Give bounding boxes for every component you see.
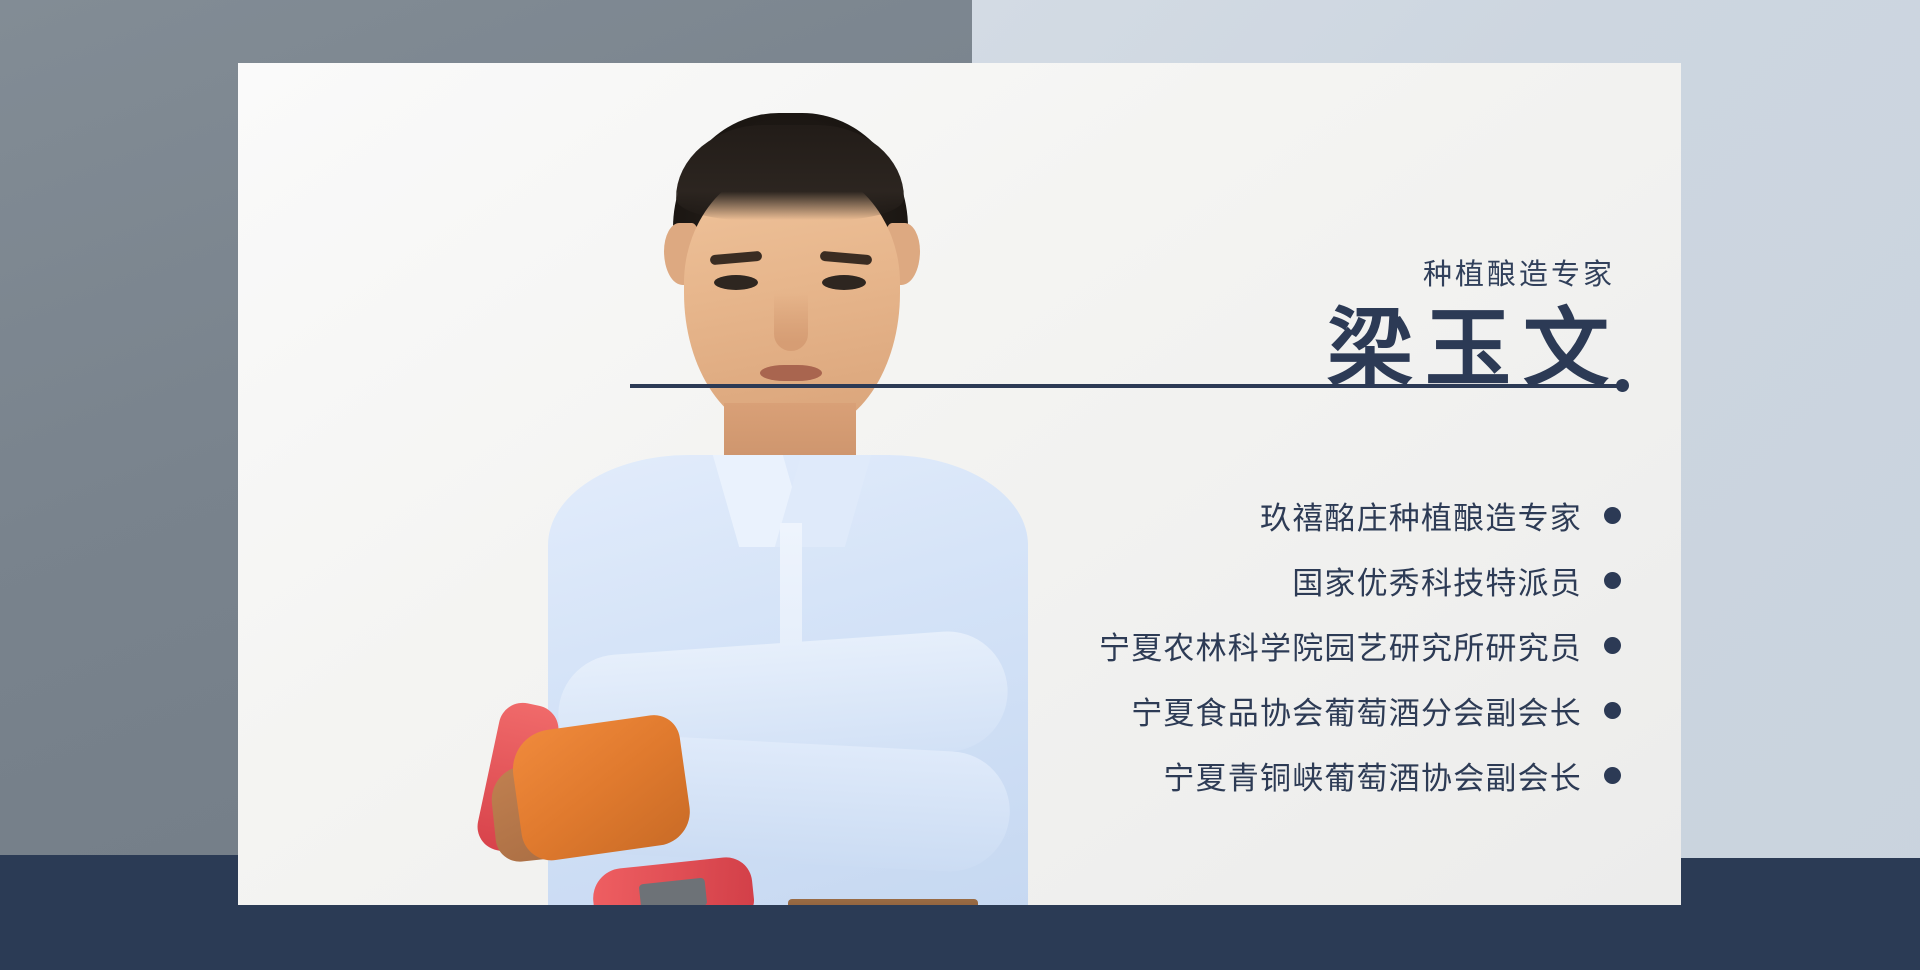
portrait-belt bbox=[788, 899, 978, 905]
credential-label: 国家优秀科技特派员 bbox=[1292, 558, 1582, 603]
credential-label: 宁夏农林科学院园艺研究所研究员 bbox=[1099, 623, 1582, 668]
poster-stage: 种植酿造专家 梁玉文 玖禧酩庄种植酿造专家 国家优秀科技特派员 宁夏农林科学院园… bbox=[0, 0, 1920, 970]
list-item: 玖禧酩庄种植酿造专家 bbox=[1260, 483, 1621, 548]
bullet-dot-icon bbox=[1604, 572, 1621, 589]
portrait-orange-glove bbox=[508, 712, 694, 864]
list-item: 国家优秀科技特派员 bbox=[1292, 548, 1621, 613]
credential-label: 宁夏食品协会葡萄酒分会副会长 bbox=[1131, 688, 1582, 733]
background-navy-band-bottom bbox=[0, 905, 1920, 970]
list-item: 宁夏食品协会葡萄酒分会副会长 bbox=[1131, 678, 1621, 743]
list-item: 宁夏青铜峡葡萄酒协会副会长 bbox=[1163, 743, 1621, 808]
bullet-dot-icon bbox=[1604, 507, 1621, 524]
portrait-mouth bbox=[760, 365, 822, 381]
credentials-list: 玖禧酩庄种植酿造专家 国家优秀科技特派员 宁夏农林科学院园艺研究所研究员 宁夏食… bbox=[801, 483, 1621, 808]
expert-subtitle: 种植酿造专家 bbox=[1423, 251, 1615, 293]
divider-end-dot-icon bbox=[1616, 379, 1629, 392]
credential-label: 玖禧酩庄种植酿造专家 bbox=[1260, 493, 1582, 538]
profile-card: 种植酿造专家 梁玉文 玖禧酩庄种植酿造专家 国家优秀科技特派员 宁夏农林科学院园… bbox=[238, 63, 1681, 905]
bullet-dot-icon bbox=[1604, 767, 1621, 784]
portrait-nose bbox=[774, 293, 808, 351]
credential-label: 宁夏青铜峡葡萄酒协会副会长 bbox=[1163, 753, 1582, 798]
bullet-dot-icon bbox=[1604, 702, 1621, 719]
expert-name: 梁玉文 bbox=[1327, 303, 1621, 396]
list-item: 宁夏农林科学院园艺研究所研究员 bbox=[1099, 613, 1621, 678]
bullet-dot-icon bbox=[1604, 637, 1621, 654]
portrait-eye-right bbox=[822, 275, 866, 290]
portrait-fringe bbox=[676, 125, 904, 220]
portrait-eye-left bbox=[714, 275, 758, 290]
horizontal-divider bbox=[630, 384, 1626, 388]
